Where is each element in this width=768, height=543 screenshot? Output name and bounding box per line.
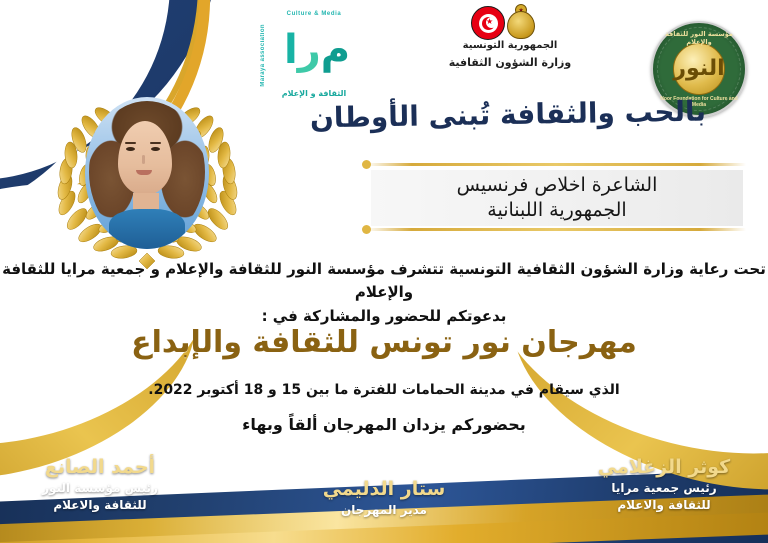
- invitation-body-line-1: تحت رعاية وزارة الشؤون الثقافية التونسية…: [0, 258, 768, 305]
- signature-role-line-1: مدير المهرجان: [294, 502, 474, 519]
- honoree-name-panel: الشاعرة اخلاص فرنسيس الجمهورية اللبنانية: [371, 170, 743, 226]
- maraya-logo-name-en: Maraya association: [260, 24, 266, 87]
- signature-block-right: كوثر الزغلامي رئيس جمعية مرايا للثقافة و…: [574, 456, 754, 513]
- festival-invitation-poster: Culture & Media Maraya association مرا ا…: [0, 0, 768, 543]
- maraya-logo-tagline-ar: الثقافة و الإعلام: [258, 89, 370, 98]
- maraya-logo-mark-icon: مرا: [276, 20, 358, 80]
- signature-block-center: ستار الدليمي مدير المهرجان: [294, 478, 474, 519]
- tunisia-national-emblem-icon: ★: [505, 4, 535, 40]
- tunisia-flag-icon: ★: [471, 6, 505, 40]
- poster-headline: بالحب والثقافة تُبنى الأوطان: [268, 94, 749, 135]
- honoree-country: الجمهورية اللبنانية: [487, 199, 626, 222]
- noor-seal-text-ar: مؤسسة النور للثقافة والإعلام: [653, 30, 745, 46]
- signature-name: أحمد الصانع: [10, 456, 190, 480]
- signature-role-line-2: للثقافة والاعلام: [10, 497, 190, 514]
- signature-role-line-2: للثقافة والاعلام: [574, 497, 754, 514]
- festival-date-location: الذي سيقام في مدينة الحمامات للفترة ما ب…: [0, 382, 768, 398]
- gold-divider-bottom: [366, 228, 746, 231]
- gold-divider-top: [366, 163, 746, 166]
- honoree-name: الشاعرة اخلاص فرنسيس: [457, 174, 658, 197]
- honoree-portrait-photo: [85, 97, 209, 249]
- maraya-association-logo: Culture & Media Maraya association مرا ا…: [258, 8, 370, 100]
- invitation-body: تحت رعاية وزارة الشؤون الثقافية التونسية…: [0, 258, 768, 328]
- maraya-logo-tagline-en: Culture & Media: [258, 11, 370, 17]
- signature-role-line-1: رئيس مؤسسة النور: [10, 480, 190, 497]
- ministry-of-cultural-affairs-logo: ★ ★ الجمهورية التونسية وزارة الشؤون الثق…: [447, 4, 573, 90]
- ministry-republic-label: الجمهورية التونسية: [447, 40, 573, 51]
- signature-name: كوثر الزغلامي: [574, 456, 754, 480]
- ministry-department-label: وزارة الشؤون الثقافية: [447, 56, 573, 69]
- honoree-portrait-block: [45, 83, 250, 283]
- signature-block-left: أحمد الصانع رئيس مؤسسة النور للثقافة وال…: [10, 456, 190, 513]
- festival-title: مهرجان نور تونس للثقافة والإبداع: [0, 325, 768, 360]
- signature-name: ستار الدليمي: [294, 478, 474, 502]
- invitation-closing-line: بحضوركم يزدان المهرجان ألقاً وبهاء: [0, 415, 768, 434]
- signature-role-line-1: رئيس جمعية مرايا: [574, 480, 754, 497]
